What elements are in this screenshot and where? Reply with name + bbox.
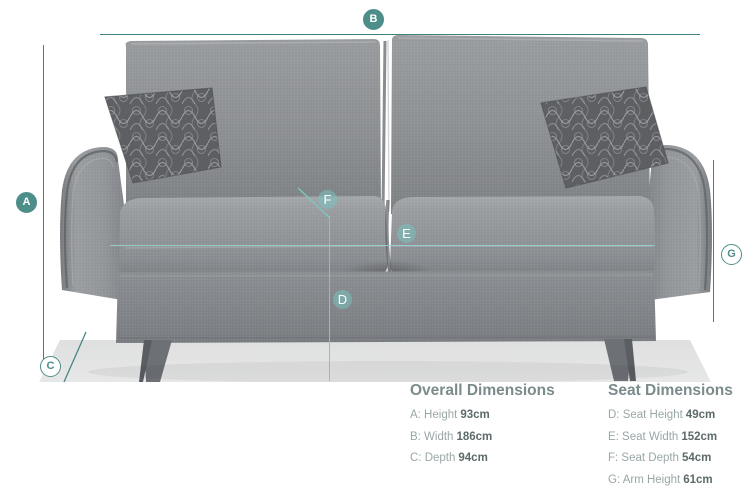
- dimension-row-d: D: Seat Height49cm: [608, 409, 750, 421]
- dimension-label-d: D: Seat Height: [608, 409, 683, 421]
- seat-dimensions-column: Seat Dimensions D: Seat Height49cm E: Se…: [608, 382, 750, 495]
- dimension-label-f: F: Seat Depth: [608, 452, 679, 464]
- overall-dimensions-heading: Overall Dimensions: [410, 382, 600, 400]
- dimension-row-g: G: Arm Height61cm: [608, 474, 750, 486]
- dimension-value-g: 61cm: [683, 474, 712, 486]
- dimension-label-e: E: Seat Width: [608, 431, 678, 443]
- dimension-value-f: 54cm: [682, 452, 711, 464]
- product-dimensions-diagram: A B C D E F G Overall Dimensions A: Heig…: [0, 0, 750, 504]
- dimension-value-e: 152cm: [681, 431, 717, 443]
- dimension-label-a: A: Height: [410, 409, 457, 421]
- dimension-label-b: B: Width: [410, 431, 453, 443]
- dimension-row-e: E: Seat Width152cm: [608, 431, 750, 443]
- dimension-value-c: 94cm: [458, 452, 487, 464]
- seat-dimensions-heading: Seat Dimensions: [608, 382, 750, 400]
- sofa-image: [0, 0, 750, 400]
- dimension-row-a: A: Height93cm: [410, 409, 600, 421]
- dimensions-panel: Overall Dimensions A: Height93cm B: Widt…: [0, 382, 750, 504]
- dimension-label-c: C: Depth: [410, 452, 455, 464]
- dimension-value-b: 186cm: [456, 431, 492, 443]
- dimension-value-d: 49cm: [686, 409, 715, 421]
- dimension-label-g: G: Arm Height: [608, 474, 680, 486]
- dimension-row-f: F: Seat Depth54cm: [608, 452, 750, 464]
- dimension-row-c: C: Depth94cm: [410, 452, 600, 464]
- overall-dimensions-column: Overall Dimensions A: Height93cm B: Widt…: [410, 382, 600, 474]
- dimension-value-a: 93cm: [460, 409, 489, 421]
- dimension-row-b: B: Width186cm: [410, 431, 600, 443]
